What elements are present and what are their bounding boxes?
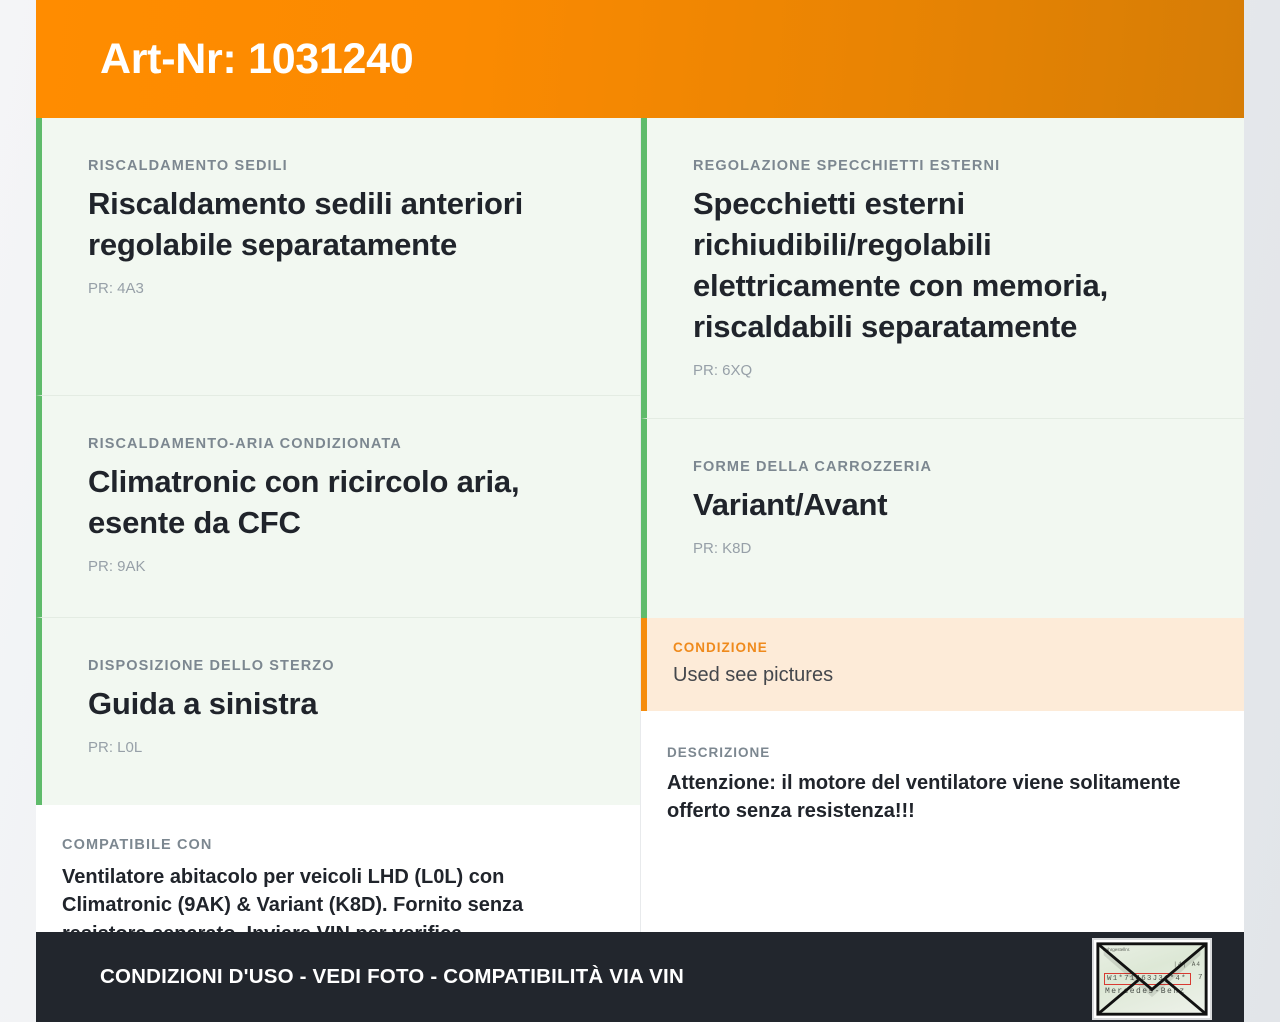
description-text: Attenzione: il motore del ventilatore vi… xyxy=(667,769,1198,825)
right-spec-list: Regolazione specchietti esterni Specchie… xyxy=(641,118,1244,618)
spec-card-steering-side: Disposizione dello sterzo Guida a sinist… xyxy=(36,618,640,805)
spec-label: Disposizione dello sterzo xyxy=(88,658,594,674)
footer-bar: CONDIZIONI D'USO - VEDI FOTO - COMPATIBI… xyxy=(36,932,1244,1022)
content-area: Riscaldamento sedili Riscaldamento sedil… xyxy=(36,118,1244,932)
spec-pr-code: PR: 6XQ xyxy=(693,362,1198,379)
page-title: Art-Nr: 1031240 xyxy=(100,38,413,81)
spec-label: Riscaldamento-aria condizionata xyxy=(88,436,594,452)
envelope-icon xyxy=(1094,940,1210,1018)
description-label: Descrizione xyxy=(667,745,1198,760)
spec-pr-code: PR: K8D xyxy=(693,540,1198,557)
spec-card-seat-heating: Riscaldamento sedili Riscaldamento sedil… xyxy=(36,118,640,396)
right-column: Regolazione specchietti esterni Specchie… xyxy=(641,118,1244,932)
spec-value: Riscaldamento sedili anteriori regolabil… xyxy=(88,184,594,266)
listing-card: Art-Nr: 1031240 Riscaldamento sedili Ris… xyxy=(36,0,1244,1022)
compatibility-label: Compatibile con xyxy=(62,837,594,853)
spec-label: Forme della carrozzeria xyxy=(693,459,1198,475)
condition-value: Used see pictures xyxy=(673,662,1198,688)
left-spec-list: Riscaldamento sedili Riscaldamento sedil… xyxy=(36,118,640,805)
spec-pr-code: PR: L0L xyxy=(88,739,594,756)
spec-label: Regolazione specchietti esterni xyxy=(693,158,1198,174)
condition-panel: Condizione Used see pictures xyxy=(641,618,1244,711)
description-panel: Descrizione Attenzione: il motore del ve… xyxy=(641,711,1244,932)
spec-card-body-shape: Forme della carrozzeria Variant/Avant PR… xyxy=(641,419,1244,618)
spec-pr-code: PR: 4A3 xyxy=(88,280,594,297)
spec-pr-code: PR: 9AK xyxy=(88,558,594,575)
left-column: Riscaldamento sedili Riscaldamento sedil… xyxy=(36,118,641,932)
spec-value: Variant/Avant xyxy=(693,485,1198,526)
spec-value: Specchietti esterni richiudibili/regolab… xyxy=(693,184,1198,348)
spec-card-air-conditioning: Riscaldamento-aria condizionata Climatro… xyxy=(36,396,640,618)
condition-label: Condizione xyxy=(673,640,1198,655)
footer-text: CONDIZIONI D'USO - VEDI FOTO - COMPATIBI… xyxy=(100,965,684,989)
spec-value: Guida a sinistra xyxy=(88,684,594,725)
spec-label: Riscaldamento sedili xyxy=(88,158,594,174)
vin-document-thumbnail[interactable]: Fahrgestellnr. |4| A4 W1*71463J31*4* 7 M… xyxy=(1092,938,1212,1020)
header-bar: Art-Nr: 1031240 xyxy=(36,0,1244,118)
spec-value: Climatronic con ricircolo aria, esente d… xyxy=(88,462,594,544)
spec-card-exterior-mirrors: Regolazione specchietti esterni Specchie… xyxy=(641,118,1244,419)
